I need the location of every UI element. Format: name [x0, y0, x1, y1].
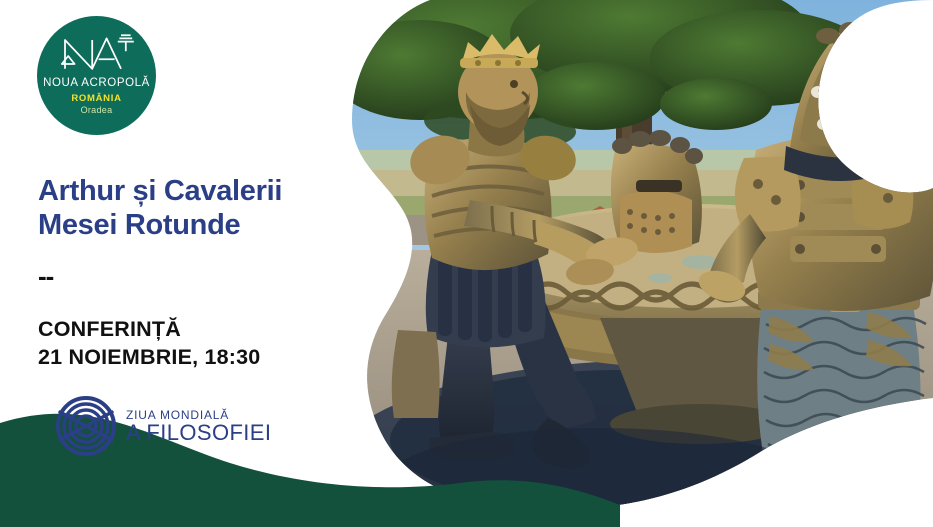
wpd-text-lockup: ZIUA MONDIALĂ A FILOSOFIEI [126, 409, 271, 444]
separator-dashes: -- [38, 263, 53, 289]
event-datetime: 21 NOIEMBRIE, 18:30 [38, 344, 260, 372]
wpd-line-2: A FILOSOFIEI [126, 422, 271, 444]
event-details: CONFERINȚĂ 21 NOIEMBRIE, 18:30 [38, 316, 260, 371]
event-kind: CONFERINȚĂ [38, 316, 260, 344]
org-name: NOUA ACROPOLĂ [43, 77, 150, 89]
poster-title: Arthur și Cavalerii Mesei Rotunde [38, 175, 368, 243]
poster-canvas: NOUA ACROPOLĂ ROMÂNIA Oradea Arthur și C… [0, 0, 933, 527]
org-country: ROMÂNIA [71, 93, 121, 104]
world-philosophy-day-logo: ZIUA MONDIALĂ A FILOSOFIEI [56, 396, 271, 456]
org-city: Oradea [81, 105, 113, 115]
globe-arcs-icon [56, 396, 116, 456]
noua-acropola-logo: NOUA ACROPOLĂ ROMÂNIA Oradea [37, 16, 156, 135]
wpd-line-1: ZIUA MONDIALĂ [126, 409, 271, 421]
left-content-column: NOUA ACROPOLĂ ROMÂNIA Oradea Arthur și C… [0, 0, 400, 527]
na-monogram-icon [57, 32, 137, 76]
